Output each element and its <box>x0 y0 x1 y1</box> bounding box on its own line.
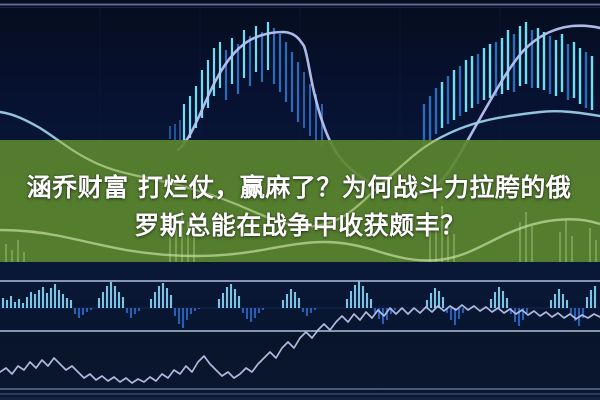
bottom-hairline-1 <box>0 388 600 390</box>
top-hairline <box>0 3 600 6</box>
equity-curve-graphic <box>0 0 600 400</box>
screenshot-canvas: 涵乔财富 打烂仗，赢麻了？为何战斗力拉胯的俄 罗斯总能在战争中收获颇丰？ <box>0 0 600 400</box>
equity-curve-path <box>0 305 600 383</box>
top-hairline-secondary <box>0 7 600 8</box>
bottom-hairline-2 <box>0 393 600 395</box>
